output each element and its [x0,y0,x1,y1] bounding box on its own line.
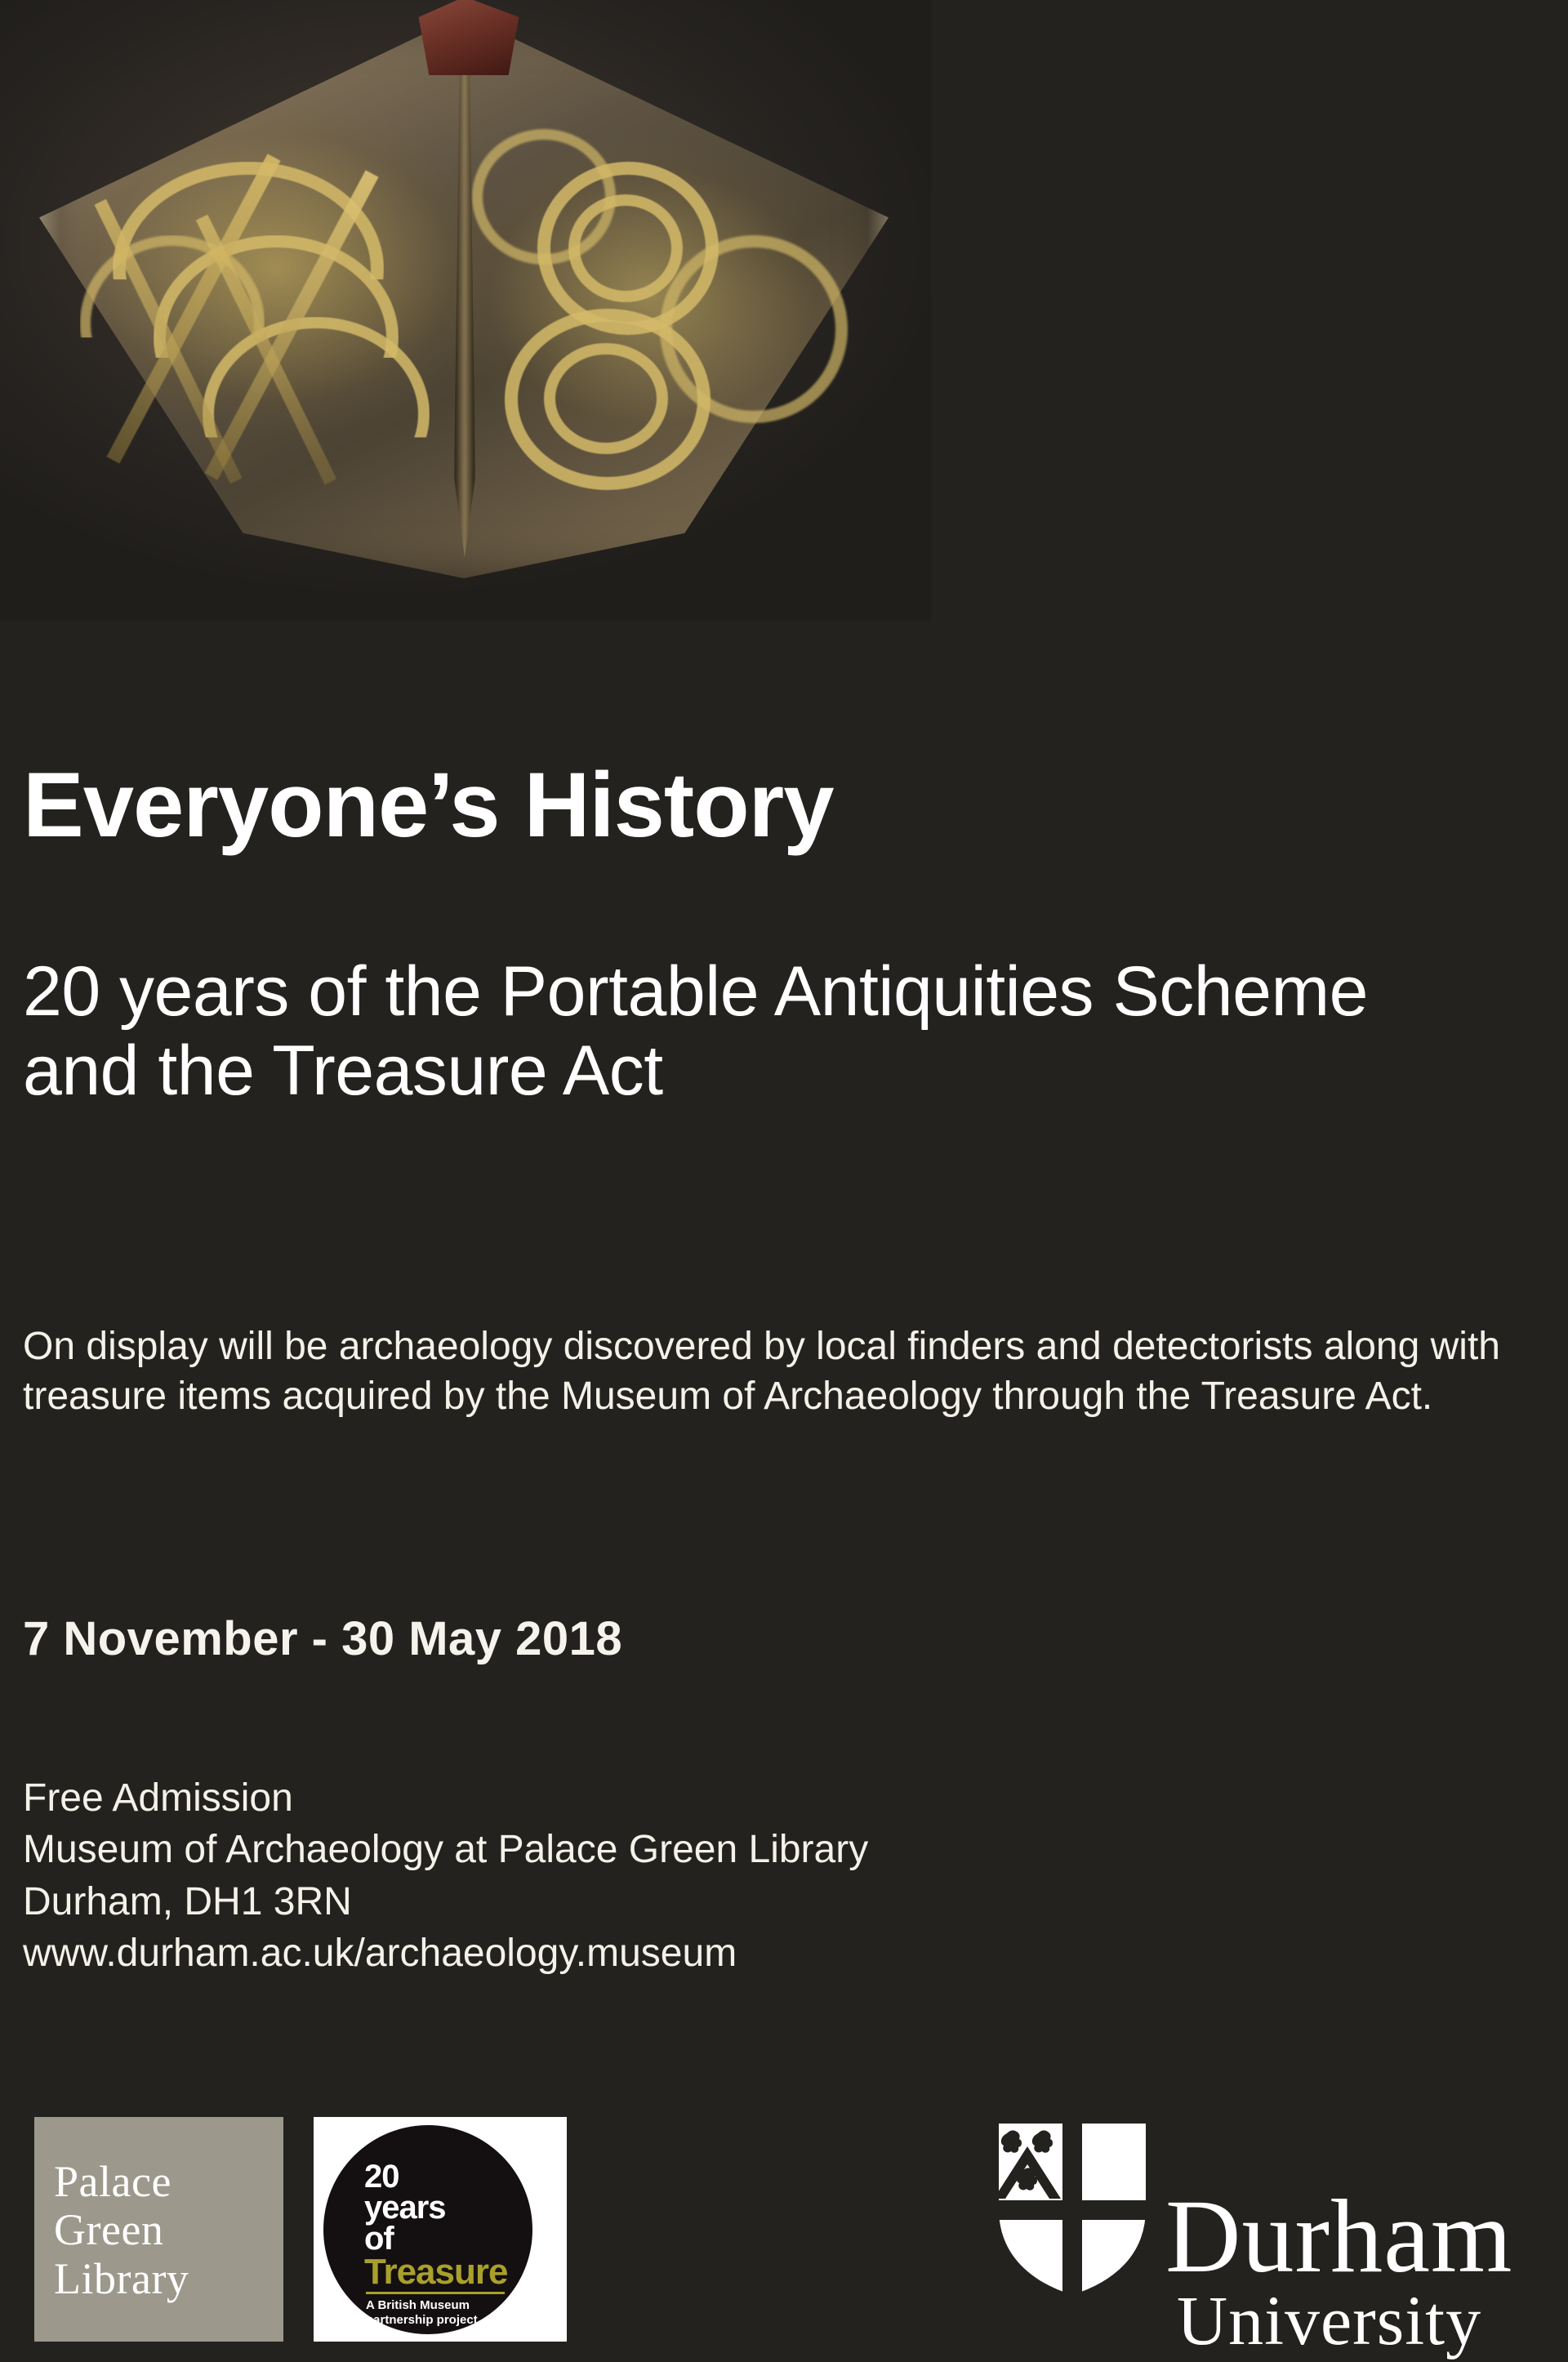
gilt-spiral [660,235,848,423]
palace-green-library-wordmark: Palace Green Library [54,2158,189,2303]
venue-details: Free Admission Museum of Archaeology at … [23,1772,1248,1979]
treasure-line-treasure: Treasure [364,2254,507,2290]
logo-row: Palace Green Library 20 years of Treasur… [0,2099,1568,2362]
university-wordmark: University [1177,2285,1481,2355]
treasure-line-of: of [364,2223,394,2255]
poster-subtitle: 20 years of the Portable Antiquities Sch… [23,952,1428,1110]
garnet-inlay [416,0,521,75]
brooch-illustration [15,0,913,611]
durham-wordmark: Durham [1165,2184,1512,2288]
treasure-divider-rule [366,2292,505,2294]
gilt-spiral [472,129,616,265]
palace-green-library-logo: Palace Green Library [34,2117,283,2342]
gilt-spiral [544,343,668,454]
treasure-strapline: A British Museum partnership project [366,2298,521,2328]
durham-university-logo: Durham University [992,2114,1556,2342]
exhibition-poster: Everyone’s History 20 years of the Porta… [0,0,1568,2362]
poster-description: On display will be archaeology discovere… [23,1321,1558,1422]
exhibition-dates: 7 November - 30 May 2018 [23,1611,622,1666]
treasure-line-20: 20 [364,2161,399,2193]
20-years-of-treasure-logo: 20 years of Treasure A British Museum pa… [314,2117,567,2342]
durham-shield-icon [992,2117,1152,2302]
treasure-line-years: years [364,2192,446,2224]
page-title: Everyone’s History [23,760,834,851]
artifact-photo [0,0,931,621]
